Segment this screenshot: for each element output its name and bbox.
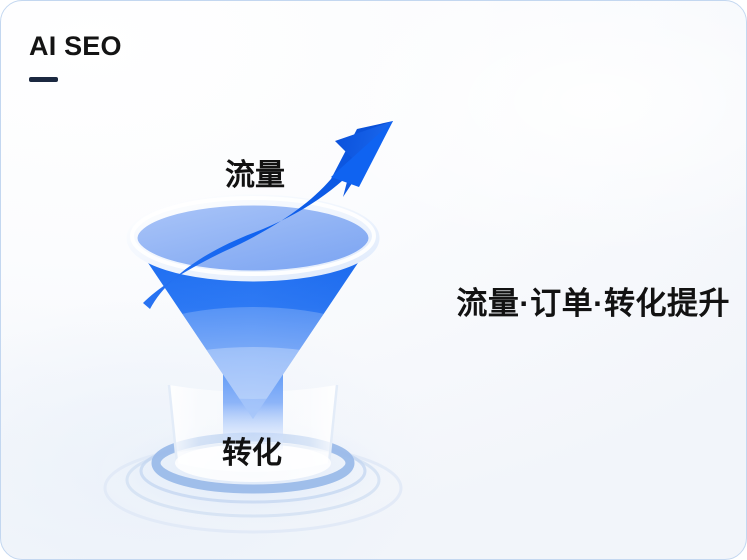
brand-block: AI SEO: [29, 33, 122, 82]
funnel-label-conversion: 转化: [222, 437, 282, 470]
page-title: AI SEO: [29, 33, 122, 60]
poster-card: AI SEO: [0, 0, 747, 560]
funnel-label-traffic: 流量: [225, 159, 285, 192]
title-underline-rule: [29, 77, 58, 82]
headline-text: 流量·订单·转化提升: [456, 278, 730, 323]
